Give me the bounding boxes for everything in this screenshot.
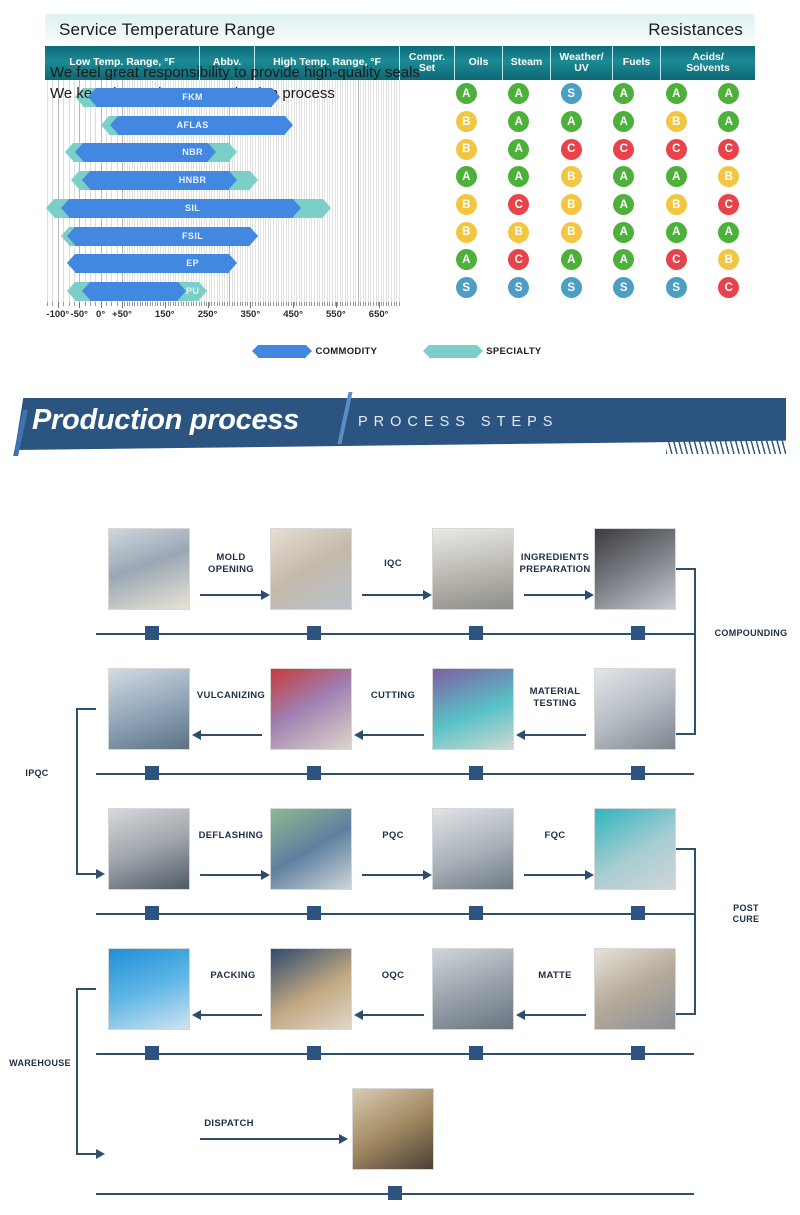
axis-minor-tick: [278, 302, 279, 306]
axis-tick-label: 450°: [283, 309, 303, 320]
resistance-row: BAAABA: [440, 108, 755, 136]
axis-minor-tick: [388, 302, 389, 306]
process-photo-row1-1: [108, 528, 190, 610]
rating-badge-a: A: [666, 166, 687, 187]
rating-badge-b: B: [561, 222, 582, 243]
axis-tick: [79, 302, 80, 308]
axis-minor-tick: [370, 302, 371, 306]
axis-minor-tick: [127, 302, 128, 306]
rating-badge-a: A: [613, 111, 634, 132]
chart-legend: COMMODITY SPECIALTY: [0, 340, 800, 362]
loop-compounding-vertical: [694, 568, 696, 734]
axis-minor-tick: [69, 302, 70, 306]
rating-badge-a: A: [456, 249, 477, 270]
axis-minor-tick: [240, 302, 241, 306]
table-title-resistances: Resistances: [414, 14, 755, 46]
rating-badge-a: A: [508, 166, 529, 187]
axis-minor-tick: [140, 302, 141, 306]
header-weather-line2: UV: [574, 62, 589, 74]
resistance-cell: A: [703, 83, 756, 104]
axis-tick: [165, 302, 166, 308]
resistance-cell: A: [440, 249, 493, 270]
rating-badge-a: A: [561, 249, 582, 270]
axis-tick-label: 650°: [369, 309, 389, 320]
rail-node-row4-4: [631, 1046, 645, 1060]
process-photo-row3-2: [270, 808, 352, 890]
rating-badge-a: A: [666, 83, 687, 104]
resistance-cell: A: [493, 83, 546, 104]
rail-row3: [96, 913, 694, 915]
axis-minor-tick: [309, 302, 310, 306]
axis-tick: [122, 302, 123, 308]
rail-node-row4-2: [307, 1046, 321, 1060]
process-photo-row4-2: [270, 948, 352, 1030]
axis-minor-tick: [319, 302, 320, 306]
axis-minor-tick: [360, 302, 361, 306]
bar-label-aflas: AFLAS: [163, 116, 223, 135]
axis-tick-label: -50°: [70, 309, 88, 320]
resistance-cell: B: [650, 194, 703, 215]
axis-minor-tick: [394, 302, 395, 306]
resistance-cell: B: [440, 139, 493, 160]
loop-compounding-bottom-arrow: [676, 733, 696, 735]
process-label-dispatch: DISPATCH: [190, 1118, 268, 1130]
axis-minor-tick: [201, 302, 202, 306]
rating-badge-b: B: [456, 222, 477, 243]
axis-minor-tick: [386, 302, 387, 306]
legend-swatch-specialty: [429, 345, 477, 358]
resistance-cell: S: [493, 277, 546, 298]
axis-minor-tick: [263, 302, 264, 306]
resistance-row: ACAACB: [440, 246, 755, 274]
legend-item-specialty: SPECIALTY: [429, 345, 541, 358]
axis-minor-tick: [209, 302, 210, 306]
rating-badge-c: C: [561, 139, 582, 160]
rating-badge-c: C: [508, 194, 529, 215]
process-arrow-8: [362, 874, 424, 876]
axis-minor-tick: [245, 302, 246, 306]
resistance-cell: S: [598, 277, 651, 298]
resistance-cell: A: [493, 166, 546, 187]
process-label-material-testing: MATERIALTESTING: [518, 686, 592, 709]
header-fuels: Fuels: [613, 46, 661, 80]
rating-badge-b: B: [456, 111, 477, 132]
resistance-cell: B: [545, 194, 598, 215]
resistance-cell: S: [545, 83, 598, 104]
axis-minor-tick: [168, 302, 169, 306]
resistance-cell: A: [650, 166, 703, 187]
process-label-cutting: CUTTING: [356, 690, 430, 702]
axis-minor-tick: [270, 302, 271, 306]
rail-node-row3-1: [145, 906, 159, 920]
rating-badge-s: S: [561, 277, 582, 298]
axis-minor-tick: [296, 302, 297, 306]
banner-hatch-decoration: [666, 428, 786, 454]
axis-minor-tick: [199, 302, 200, 306]
axis-minor-tick: [383, 302, 384, 306]
header-weather-line1: Weather/: [559, 51, 603, 63]
axis-minor-tick: [281, 302, 282, 306]
axis-minor-tick: [160, 302, 161, 306]
axis-minor-tick: [291, 302, 292, 306]
process-photo-row1-3: [432, 528, 514, 610]
side-label-post-cure: POSTCURE: [706, 903, 786, 925]
axis-minor-tick: [129, 302, 130, 306]
process-photo-row2-2: [270, 668, 352, 750]
rating-badge-c: C: [666, 139, 687, 160]
resistance-row: AASAAA: [440, 80, 755, 108]
rail-node-row3-3: [469, 906, 483, 920]
axis-minor-tick: [145, 302, 146, 306]
axis-minor-tick: [373, 302, 374, 306]
axis-minor-tick: [196, 302, 197, 306]
process-photo-row3-4: [594, 808, 676, 890]
process-label-packing: PACKING: [196, 970, 270, 982]
process-label-vulcanizing: VULCANIZING: [192, 690, 270, 702]
axis-minor-tick: [324, 302, 325, 306]
rail-node-row2-2: [307, 766, 321, 780]
axis-minor-tick: [142, 302, 143, 306]
axis-tick-label: 150°: [155, 309, 175, 320]
axis-tick-label: 550°: [326, 309, 346, 320]
process-photo-row2-4: [594, 668, 676, 750]
rating-badge-s: S: [456, 277, 477, 298]
axis-minor-tick: [95, 302, 96, 306]
process-label-fqc: FQC: [520, 830, 590, 842]
process-label-mold-opening: MOLDOPENING: [196, 552, 266, 575]
rail-node-row1-4: [631, 626, 645, 640]
loop-warehouse-top: [76, 988, 96, 990]
axis-minor-tick: [211, 302, 212, 306]
rating-badge-c: C: [718, 139, 739, 160]
process-arrow-1: [200, 594, 262, 596]
process-label-ingredients-preparation: INGREDIENTSPREPARATION: [516, 552, 594, 575]
rating-badge-b: B: [456, 194, 477, 215]
resistance-cell: A: [598, 194, 651, 215]
axis-minor-tick: [188, 302, 189, 306]
loop-postcure-bottom-arrow: [676, 1013, 696, 1015]
loop-warehouse-bottom-arrow: [76, 1153, 96, 1155]
process-photo-row1-4: [594, 528, 676, 610]
axis-minor-tick: [186, 302, 187, 306]
rating-badge-c: C: [666, 249, 687, 270]
axis-minor-tick: [337, 302, 338, 306]
resistance-row: SSSSSC: [440, 274, 755, 302]
axis-minor-tick: [350, 302, 351, 306]
rating-badge-a: A: [613, 166, 634, 187]
rating-badge-b: B: [561, 166, 582, 187]
process-arrow-13: [200, 1138, 340, 1140]
resistance-cell: A: [598, 222, 651, 243]
legend-swatch-commodity: [258, 345, 306, 358]
resistance-cell: A: [493, 139, 546, 160]
rail-row1: [96, 633, 694, 635]
axis-minor-tick: [224, 302, 225, 306]
rating-badge-a: A: [613, 83, 634, 104]
axis-minor-tick: [304, 302, 305, 306]
rail-node-row5-1: [388, 1186, 402, 1200]
axis-minor-tick: [63, 302, 64, 306]
rail-node-row4-3: [469, 1046, 483, 1060]
rail-node-row2-1: [145, 766, 159, 780]
header-steam: Steam: [503, 46, 551, 80]
rating-badge-s: S: [666, 277, 687, 298]
rating-badge-a: A: [613, 222, 634, 243]
resistance-cell: A: [598, 83, 651, 104]
axis-minor-tick: [299, 302, 300, 306]
axis-minor-tick: [111, 302, 112, 306]
rating-badge-a: A: [718, 83, 739, 104]
rail-node-row2-4: [631, 766, 645, 780]
process-label-pqc: PQC: [358, 830, 428, 842]
resistance-cell: S: [545, 277, 598, 298]
axis-minor-tick: [163, 302, 164, 306]
axis-minor-tick: [247, 302, 248, 306]
tagline-line-1: We feel great responsibility to provide …: [50, 62, 420, 83]
axis-tick-label: 250°: [198, 309, 218, 320]
axis-minor-tick: [229, 302, 230, 306]
axis-minor-tick: [219, 302, 220, 306]
process-photo-dispatch: [352, 1088, 434, 1170]
process-arrow-9: [524, 874, 586, 876]
axis-minor-tick: [332, 302, 333, 306]
axis-minor-tick: [134, 302, 135, 306]
service-temperature-panel: Service Temperature Range Resistances Lo…: [0, 0, 800, 378]
axis-minor-tick: [273, 302, 274, 306]
process-arrow-11: [362, 1014, 424, 1016]
table-title-service-temp: Service Temperature Range: [45, 14, 414, 46]
axis-minor-tick: [260, 302, 261, 306]
axis-minor-tick: [358, 302, 359, 306]
axis-minor-tick: [342, 302, 343, 306]
axis-minor-tick: [191, 302, 192, 306]
axis-minor-tick: [234, 302, 235, 306]
bar-label-sil: SIL: [163, 199, 223, 218]
axis-minor-tick: [381, 302, 382, 306]
bar-label-pu: PU: [163, 282, 223, 301]
resistance-cell: B: [545, 222, 598, 243]
resistance-cell: B: [703, 166, 756, 187]
resistance-row: AABAAB: [440, 163, 755, 191]
axis-minor-tick: [152, 302, 153, 306]
axis-minor-tick: [193, 302, 194, 306]
resistance-row: BCBABC: [440, 191, 755, 219]
axis-minor-tick: [232, 302, 233, 306]
axis-tick: [379, 302, 380, 308]
axis-tick: [58, 302, 59, 308]
axis-minor-tick: [396, 302, 397, 306]
axis-minor-tick: [181, 302, 182, 306]
axis-minor-tick: [106, 302, 107, 306]
resistance-cell: C: [703, 194, 756, 215]
loop-ipqc-top: [76, 708, 96, 710]
process-photo-row3-3: [432, 808, 514, 890]
process-label-deflashing: DEFLASHING: [192, 830, 270, 842]
rating-badge-b: B: [666, 111, 687, 132]
rail-node-row2-3: [469, 766, 483, 780]
axis-minor-tick: [283, 302, 284, 306]
axis-minor-tick: [268, 302, 269, 306]
resistance-cell: B: [703, 249, 756, 270]
axis-minor-tick: [391, 302, 392, 306]
rating-badge-b: B: [508, 222, 529, 243]
resistance-row: BACCCC: [440, 135, 755, 163]
axis-minor-tick: [314, 302, 315, 306]
rail-node-row3-4: [631, 906, 645, 920]
rating-badge-c: C: [718, 194, 739, 215]
axis-tick-label: -100°: [46, 309, 69, 320]
process-photo-row2-3: [432, 668, 514, 750]
axis-minor-tick: [322, 302, 323, 306]
legend-label-specialty: SPECIALTY: [486, 346, 541, 357]
rating-badge-a: A: [508, 111, 529, 132]
axis-minor-tick: [124, 302, 125, 306]
resistance-cell: A: [440, 166, 493, 187]
axis-tick: [293, 302, 294, 308]
rail-node-row1-2: [307, 626, 321, 640]
production-flow-diagram: MOLDOPENINGIQCINGREDIENTSPREPARATIONCOMP…: [0, 520, 800, 1215]
header-acids-line2: Solvents: [686, 62, 730, 74]
process-arrow-10: [200, 1014, 262, 1016]
side-label-warehouse: WAREHOUSE: [2, 1058, 78, 1069]
axis-minor-tick: [157, 302, 158, 306]
axis-minor-tick: [329, 302, 330, 306]
axis-minor-tick: [74, 302, 75, 306]
resistance-cell: A: [703, 222, 756, 243]
axis-minor-tick: [353, 302, 354, 306]
axis-minor-tick: [288, 302, 289, 306]
bar-label-hnbr: HNBR: [163, 171, 223, 190]
bar-label-fkm: FKM: [163, 88, 223, 107]
resistance-cell: C: [650, 249, 703, 270]
rail-row4: [96, 1053, 694, 1055]
side-label-ipqc: IPQC: [6, 768, 68, 779]
axis-minor-tick: [340, 302, 341, 306]
rating-badge-s: S: [613, 277, 634, 298]
resistance-rating-grid: AASAAABAAABABACCCCAABAABBCBABCBBBAAAACAA…: [440, 80, 755, 302]
axis-tick-label: +50°: [112, 309, 132, 320]
rating-badge-c: C: [718, 277, 739, 298]
rating-badge-c: C: [508, 249, 529, 270]
resistance-row: BBBAAA: [440, 218, 755, 246]
axis-minor-tick: [90, 302, 91, 306]
axis-minor-tick: [355, 302, 356, 306]
resistance-cell: B: [545, 166, 598, 187]
rail-node-row1-3: [469, 626, 483, 640]
table-title-row: Service Temperature Range Resistances: [45, 14, 755, 46]
resistance-cell: A: [545, 249, 598, 270]
resistance-cell: B: [650, 111, 703, 132]
temperature-axis: -100°-50°0°+50°150°250°350°450°550°650°: [45, 302, 755, 328]
axis-tick-label: 0°: [96, 309, 105, 320]
rating-badge-b: B: [456, 139, 477, 160]
axis-minor-tick: [183, 302, 184, 306]
axis-minor-tick: [150, 302, 151, 306]
resistance-cell: B: [440, 111, 493, 132]
axis-minor-tick: [317, 302, 318, 306]
header-weather-uv: Weather/ UV: [551, 46, 613, 80]
rating-badge-a: A: [456, 83, 477, 104]
resistance-cell: B: [440, 222, 493, 243]
resistance-cell: A: [493, 111, 546, 132]
resistance-cell: C: [598, 139, 651, 160]
axis-minor-tick: [85, 302, 86, 306]
process-arrow-6: [524, 734, 586, 736]
axis-minor-tick: [132, 302, 133, 306]
axis-minor-tick: [242, 302, 243, 306]
axis-minor-tick: [258, 302, 259, 306]
axis-minor-tick: [327, 302, 328, 306]
rating-badge-a: A: [666, 222, 687, 243]
axis-minor-tick: [214, 302, 215, 306]
bar-label-nbr: NBR: [163, 143, 223, 162]
rating-badge-a: A: [718, 111, 739, 132]
resistance-cell: C: [493, 194, 546, 215]
process-label-matte: MATTE: [520, 970, 590, 982]
axis-minor-tick: [306, 302, 307, 306]
resistance-cell: S: [650, 277, 703, 298]
axis-minor-tick: [117, 302, 118, 306]
axis-minor-tick: [147, 302, 148, 306]
rating-badge-b: B: [718, 249, 739, 270]
banner-title: Production process: [32, 404, 299, 437]
process-photo-row2-1: [108, 668, 190, 750]
resistance-cell: A: [440, 83, 493, 104]
header-acids-solvents: Acids/ Solvents: [661, 46, 755, 80]
axis-minor-tick: [255, 302, 256, 306]
axis-minor-tick: [345, 302, 346, 306]
axis-tick: [208, 302, 209, 308]
rail-row2: [96, 773, 694, 775]
loop-compounding-top: [676, 568, 696, 570]
axis-tick: [336, 302, 337, 308]
header-oils: Oils: [455, 46, 503, 80]
axis-minor-tick: [222, 302, 223, 306]
resistance-cell: A: [703, 111, 756, 132]
process-arrow-7: [200, 874, 262, 876]
banner-subtitle: PROCESS STEPS: [358, 414, 558, 430]
axis-minor-tick: [47, 302, 48, 306]
axis-minor-tick: [155, 302, 156, 306]
process-arrow-4: [200, 734, 262, 736]
process-photo-row3-1: [108, 808, 190, 890]
resistance-cell: C: [545, 139, 598, 160]
axis-minor-tick: [399, 302, 400, 306]
process-arrow-3: [524, 594, 586, 596]
process-arrow-2: [362, 594, 424, 596]
resistance-cell: A: [598, 249, 651, 270]
axis-minor-tick: [137, 302, 138, 306]
header-compr-line2: Set: [419, 62, 435, 74]
rating-badge-b: B: [561, 194, 582, 215]
rail-node-row4-1: [145, 1046, 159, 1060]
axis-tick: [101, 302, 102, 308]
process-label-iqc: IQC: [358, 558, 428, 570]
resistance-cell: A: [650, 222, 703, 243]
resistance-cell: C: [493, 249, 546, 270]
axis-minor-tick: [178, 302, 179, 306]
axis-minor-tick: [347, 302, 348, 306]
axis-minor-tick: [175, 302, 176, 306]
resistance-cell: A: [650, 83, 703, 104]
header-acids-line1: Acids/: [692, 51, 724, 63]
axis-tick: [250, 302, 251, 308]
axis-minor-tick: [252, 302, 253, 306]
legend-item-commodity: COMMODITY: [258, 345, 377, 358]
axis-minor-tick: [227, 302, 228, 306]
resistance-cell: C: [703, 139, 756, 160]
axis-minor-tick: [217, 302, 218, 306]
